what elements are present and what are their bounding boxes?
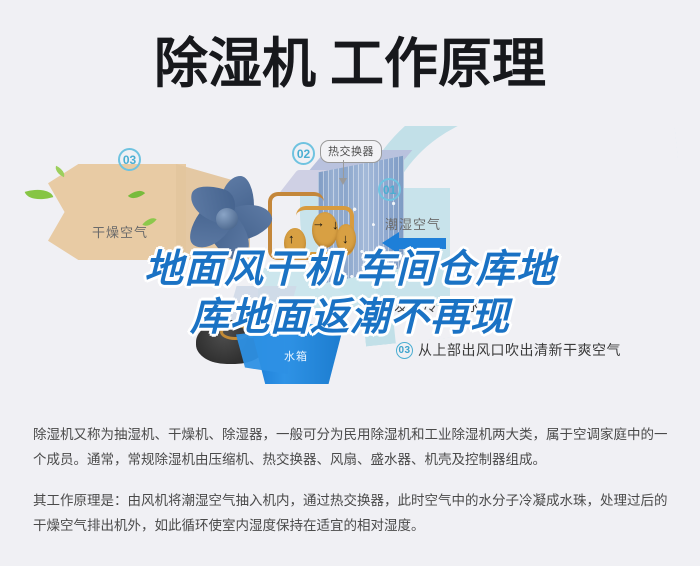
leaf-icon xyxy=(25,185,54,205)
heat-exchanger-callout: 热交换器 xyxy=(320,140,382,163)
compressor-assembly: → ↓ ↑ ↓ xyxy=(266,188,362,276)
flow-arrow-icon: ↓ xyxy=(332,218,339,231)
body-copy: 除湿机又称为抽湿机、干燥机、除湿器，一般可分为民用除湿机和工业除湿机两大类，属于… xyxy=(33,422,673,538)
fan-hub xyxy=(216,208,238,230)
heat-exchanger-callout-pointer-icon xyxy=(343,160,344,180)
body-paragraph-1: 除湿机又称为抽湿机、干燥机、除湿器，一般可分为民用除湿机和工业除湿机两大类，属于… xyxy=(33,422,673,472)
page-title-part-b: 工作原理 xyxy=(330,34,546,94)
flow-arrow-icon: ↓ xyxy=(342,232,349,245)
dry-air-arrow-icon xyxy=(48,164,186,260)
dry-air-label: 干燥空气 xyxy=(92,222,148,241)
page-title: 除湿机工作原理 xyxy=(154,37,546,91)
flow-arrow-icon: ↑ xyxy=(288,232,295,245)
title-bar: 除湿机工作原理 xyxy=(0,0,700,128)
dehumidifier-principle-diagram: → ↓ ↑ ↓ 水箱 03 02 01 热交换器 干燥空气 潮湿空气 xyxy=(0,126,700,412)
humid-air-label: 潮湿空气 xyxy=(385,214,441,233)
water-tank-label: 水箱 xyxy=(284,348,308,364)
page-title-part-a: 除湿机 xyxy=(154,34,316,94)
step-badge-01: 01 xyxy=(378,178,401,201)
step-caption-03-text: 从上部出风口吹出清新干爽空气 xyxy=(418,340,621,360)
body-paragraph-2: 其工作原理是：由风机将潮湿空气抽入机内，通过热交换器，此时空气中的水分子冷凝成水… xyxy=(33,488,673,538)
step-badge-03-caption: 03 xyxy=(396,342,413,359)
air-intake-arrow-icon xyxy=(398,238,446,249)
step-badge-02: 02 xyxy=(292,142,315,165)
fan-icon xyxy=(180,170,276,266)
step-badge-03: 03 xyxy=(118,148,141,171)
step-caption-03: 03 从上部出风口吹出清新干爽空气 xyxy=(396,340,621,360)
flow-arrow-icon: → xyxy=(312,216,325,229)
step-caption-02: 发器冷凝成水珠 xyxy=(394,296,496,316)
